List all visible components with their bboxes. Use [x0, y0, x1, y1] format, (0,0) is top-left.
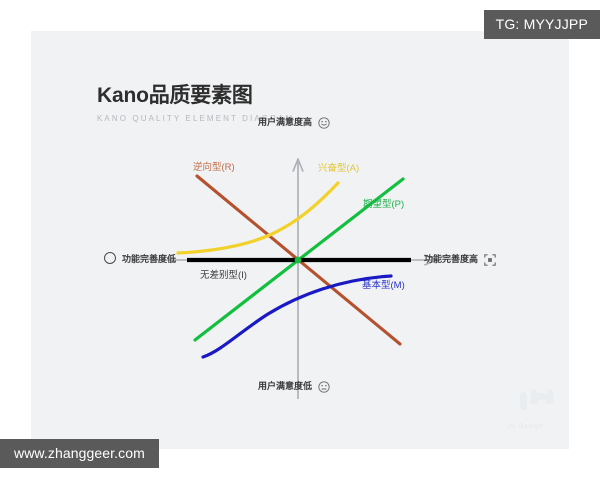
axis-label-satisfaction-high-text: 用户满意度高	[258, 117, 312, 127]
screenshot-canvas: Kano品质要素图 KANO QUALITY ELEMENT DIAGRAM	[0, 0, 600, 480]
axis-label-function-high-text: 功能完善度高	[424, 254, 478, 264]
axis-label-function-low: 功能完善度低	[122, 253, 176, 265]
expand-square-icon	[484, 254, 496, 266]
y-axis	[293, 159, 303, 399]
tg-badge: TG: MYYJJPP	[484, 10, 600, 39]
axis-label-satisfaction-low: 用户满意度低	[258, 380, 330, 393]
axis-label-function-low-text: 功能完善度低	[122, 254, 176, 264]
site-watermark-badge: www.zhanggeer.com	[0, 439, 159, 468]
origin-point	[295, 257, 302, 264]
axis-label-function-high: 功能完善度高	[424, 253, 496, 266]
curve-attractive-a	[178, 183, 338, 253]
curve-label-must-be-m: 基本型(M)	[362, 280, 405, 292]
circle-icon	[104, 252, 116, 264]
designer-watermark-caption: Jz·Design	[508, 424, 544, 430]
axis-label-satisfaction-high: 用户满意度高	[258, 116, 330, 129]
curve-label-reverse-r: 逆向型(R)	[193, 162, 235, 174]
axis-label-satisfaction-low-text: 用户满意度低	[258, 381, 312, 391]
smiley-happy-icon	[318, 117, 330, 129]
smiley-sad-icon	[318, 381, 330, 393]
curve-label-attractive-a: 兴奋型(A)	[318, 163, 359, 175]
curve-label-performance-p: 期望型(P)	[363, 199, 404, 211]
curve-label-indifferent-i: 无差别型(I)	[200, 270, 247, 282]
